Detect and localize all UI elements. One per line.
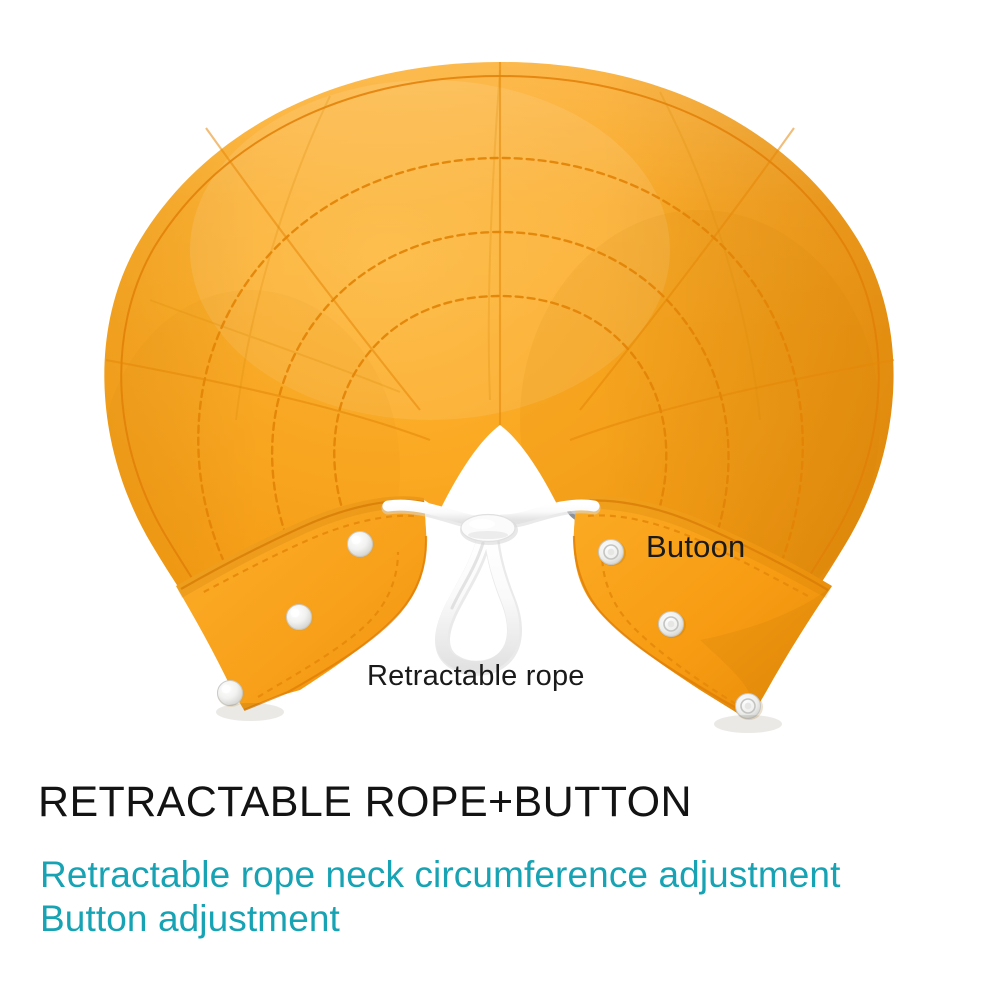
callout-label-retractable-rope: Retractable rope [367, 662, 585, 691]
subline-text-1: Retractable rope neck circumference adju… [40, 854, 840, 895]
product-illustration [0, 0, 1000, 770]
cord-lock-toggle[interactable] [460, 515, 518, 546]
screenshot-root: Butoon Retractable rope RETRACTABLE ROPE… [0, 0, 1000, 1000]
caption-block: RETRACTABLE ROPE+BUTTON Retractable rope… [0, 770, 1000, 1000]
callout-label-button: Butoon [646, 531, 745, 562]
contact-shadows [216, 703, 782, 733]
product-photo: Butoon Retractable rope [0, 0, 1000, 770]
subline-text-2: Button adjustment [40, 898, 340, 939]
headline-text: RETRACTABLE ROPE+BUTTON [38, 780, 692, 825]
